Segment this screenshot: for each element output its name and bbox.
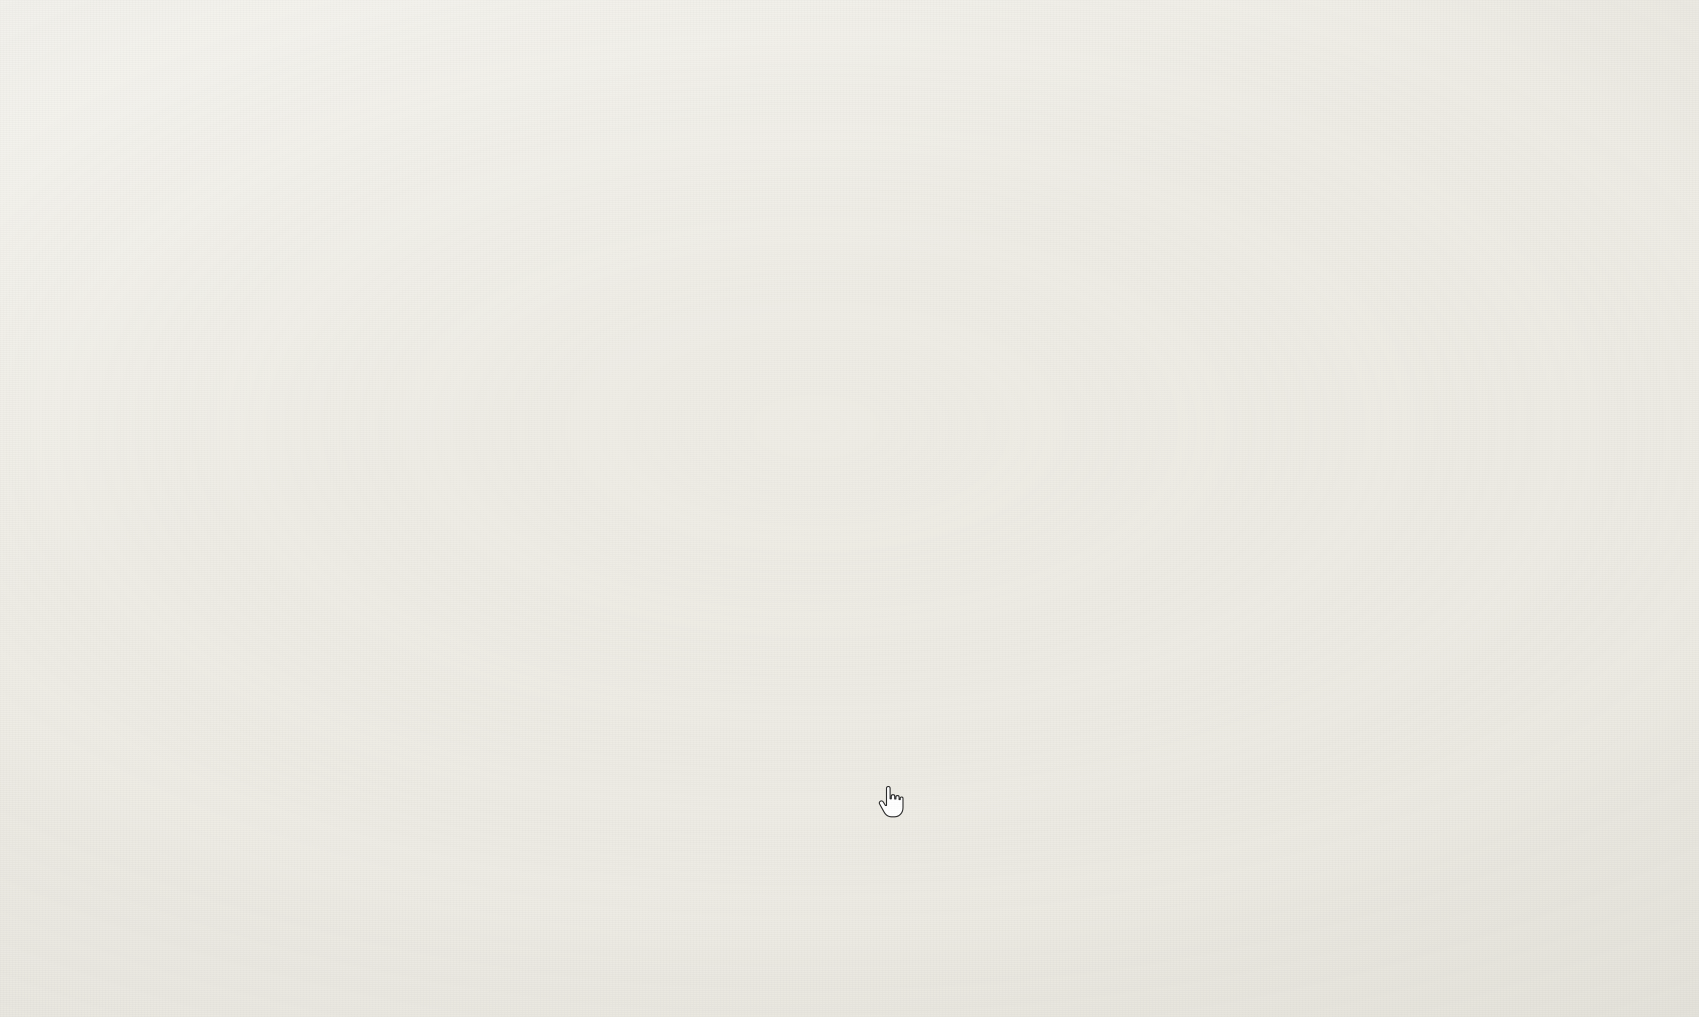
page-background [0,0,1699,1017]
hand-pointer-cursor [878,786,904,818]
